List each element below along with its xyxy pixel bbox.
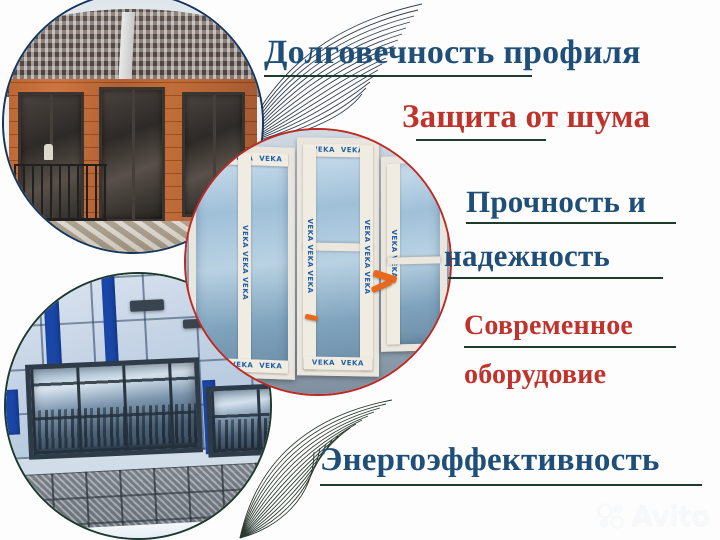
- headline-underline-4: [448, 277, 663, 279]
- glazing-frame-grid: [210, 389, 272, 453]
- veka-film-tape: VEKA VEKA VEKA: [196, 358, 288, 374]
- house-window-2: [99, 87, 164, 222]
- veka-pvc-windows-photo: VEKA VEKA VEKA VEKA VEKA VEKA VEKA VEKA …: [184, 128, 452, 396]
- veka-film-tape: VEKA VEKA: [387, 164, 400, 346]
- veka-film-tape: VEKA VEKA VEKA: [303, 144, 316, 368]
- headline-underline-1: [264, 75, 532, 77]
- headline-underline-5: [464, 346, 676, 348]
- avito-logo-icon: [597, 503, 627, 529]
- veka-film-tape: VEKA VEKA: [304, 356, 372, 370]
- veka-film-tape: VEKA VEKA VEKA: [360, 145, 373, 369]
- window-transom: [388, 257, 440, 265]
- headline-durability: Долговечность профиля: [264, 36, 641, 70]
- headline-energy-efficiency: Энергоэффективность: [320, 444, 660, 477]
- headline-modern-equipment-line2: оборудовие: [464, 361, 606, 389]
- wall-lamp: [44, 144, 53, 160]
- headline-strength-line2: надежность: [444, 240, 610, 271]
- window-mullion: [132, 90, 135, 219]
- pvc-windows-scene: VEKA VEKA VEKA VEKA VEKA VEKA VEKA VEKA …: [186, 130, 450, 394]
- avito-watermark: Avito: [597, 499, 710, 532]
- headline-modern-equipment-line1: Современное: [464, 312, 633, 340]
- balcony-railing: [14, 164, 107, 221]
- glazing-frame-grid: [30, 363, 198, 455]
- pvc-window-unit-2: VEKA VEKA VEKA VEKA VEKA VEKA VEKA VEKA …: [297, 137, 379, 376]
- headline-strength-line1: Прочность и: [466, 186, 646, 217]
- side-storefront-glazing: [205, 383, 272, 457]
- headline-underline-7: [320, 484, 702, 486]
- advertisement-poster: VEKA VEKA VEKA VEKA VEKA VEKA VEKA VEKA …: [0, 0, 720, 540]
- main-storefront-glazing: [25, 357, 203, 460]
- pvc-window-unit-3: VEKA VEKA: [381, 156, 447, 353]
- pvc-window-unit-1: VEKA VEKA VEKA VEKA VEKA VEKA VEKA VEKA …: [189, 144, 295, 380]
- blue-accent-stripe: [4, 390, 20, 436]
- log-corner-post-right: [164, 79, 181, 239]
- veka-film-tape: VEKA VEKA VEKA: [238, 153, 251, 372]
- avito-wordmark: Avito: [631, 499, 710, 532]
- headline-underline-3: [466, 222, 676, 224]
